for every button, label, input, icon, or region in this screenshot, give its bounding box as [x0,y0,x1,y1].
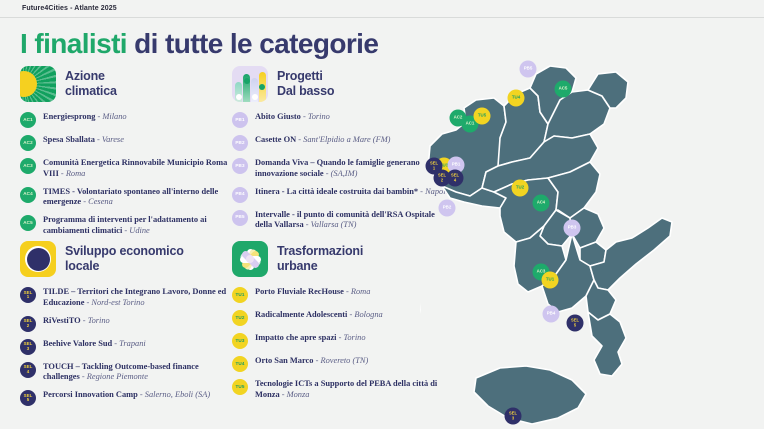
category-title: Sviluppo economicolocale [65,244,184,274]
category-trasformazioni-urbane: TrasformazioniurbaneTU1Porto Fluviale Re… [232,241,450,407]
finalist-text: TOUCH – Tackling Outcome-based finance c… [43,361,235,384]
finalist-text: Impatto che apre spazi - Torino [255,332,366,344]
list-item[interactable]: SEL2RiVestiTO - Torino [20,315,235,332]
circle-target-icon [20,241,56,277]
list-item[interactable]: SEL3Beehive Valore Sud - Trapani [20,338,235,355]
page-title: I finalisti di tutte le categorie [20,28,378,60]
map-pin-pb5[interactable]: PB5 [520,61,537,78]
finalist-text: Spesa Sballata - Varese [43,134,124,146]
finalist-name: Abito Giusto [255,112,301,121]
category-sviluppo-economico-locale: Sviluppo economicolocaleSEL1TILDE – Terr… [20,241,235,412]
finalist-name: TIMES - Volontariato spontaneo all'inter… [43,187,218,207]
map-pin-ac5[interactable]: AC5 [555,81,572,98]
list-item[interactable]: SEL5Percorsi Innovation Camp - Salerno, … [20,389,235,406]
list-item[interactable]: TU3Impatto che apre spazi - Torino [232,332,450,349]
finalist-place: Sant'Elpidio a Mare (FM) [303,135,390,144]
map-pin-tu5[interactable]: TU5 [474,108,491,125]
finalist-badge: AC1 [20,112,36,128]
list-item[interactable]: PB4Itinera - La città ideale costruita d… [232,186,450,203]
finalist-list: SEL1TILDE – Territori che Integrano Lavo… [20,286,235,412]
finalist-name: Beehive Valore Sud [43,339,112,348]
category-title-line1: Progetti [277,69,334,84]
finalist-badge: TU2 [232,310,248,326]
finalist-text: TILDE – Territori che Integrano Lavoro, … [43,286,235,309]
category-header: ProgettiDal basso [232,66,450,102]
finalist-place: (SA,IM) [331,169,358,178]
finalist-badge: AC5 [20,215,36,231]
finalist-place: Vallarsa (TN) [311,220,357,229]
finalist-place: Milano [102,112,126,121]
finalist-place: Udine [129,226,149,235]
finalist-text: Porto Fluviale RecHouse - Roma [255,286,370,298]
finalist-place: Nord-est Torino [91,298,144,307]
finalist-badge: PB1 [232,112,248,128]
finalist-place: Torino [343,333,365,342]
category-title: ProgettiDal basso [277,69,334,99]
finalist-name: Energiesprong [43,112,95,121]
category-azione-climatica: AzioneclimaticaAC1Energiesprong - Milano… [20,66,235,243]
finalist-name: Impatto che apre spazi [255,333,337,342]
finalist-text: Casette ON - Sant'Elpidio a Mare (FM) [255,134,390,146]
category-header: Azioneclimatica [20,66,235,102]
finalist-text: Itinera - La città ideale costruita dai … [255,186,448,198]
category-title-line2: urbane [277,259,363,274]
finalist-text: RiVestiTO - Torino [43,315,110,327]
list-item[interactable]: PB3Domanda Viva – Quando le famiglie gen… [232,157,450,180]
finalist-badge: SEL2 [20,316,36,332]
finalist-text: Radicalmente Adolescenti - Bologna [255,309,383,321]
finalist-badge: AC2 [20,135,36,151]
category-title-line2: Dal basso [277,84,334,99]
list-item[interactable]: AC2Spesa Sballata - Varese [20,134,235,151]
sun-rays-icon [20,66,56,102]
list-item[interactable]: TU2Radicalmente Adolescenti - Bologna [232,309,450,326]
finalist-text: Programma di interventi per l'adattament… [43,214,235,237]
list-item[interactable]: TU1Porto Fluviale RecHouse - Roma [232,286,450,303]
bar-chart-pastel-icon [232,66,268,102]
finalist-badge: PB3 [232,158,248,174]
category-header: Trasformazioniurbane [232,241,450,277]
list-item[interactable]: AC4TIMES - Volontariato spontaneo all'in… [20,186,235,209]
map-pin-pb4[interactable]: PB4 [543,306,560,323]
finalist-place: Roma [66,169,86,178]
finalist-badge: PB4 [232,187,248,203]
page-title-rest: di tutte le categorie [134,28,378,59]
map-pin-pb3[interactable]: PB3 [564,220,581,237]
finalist-name: RiVestiTO [43,316,81,325]
finalist-name: Porto Fluviale RecHouse [255,287,344,296]
finalist-place: Cesena [88,197,113,206]
finalist-place: Trapani [119,339,146,348]
finalist-place: Varese [102,135,124,144]
map-pin-pb2[interactable]: PB2 [439,200,456,217]
finalist-badge: TU5 [232,379,248,395]
finalist-text: Percorsi Innovation Camp - Salerno, Ebol… [43,389,210,401]
finalist-list: TU1Porto Fluviale RecHouse - RomaTU2Radi… [232,286,450,407]
finalist-badge: SEL4 [20,362,36,378]
finalist-place: Roma [351,287,371,296]
finalist-place: Bologna [354,310,382,319]
finalist-place: Torino [88,316,110,325]
finalist-badge: PB5 [232,210,248,226]
finalist-badge: TU4 [232,356,248,372]
map-pin-tu1[interactable]: TU1 [542,272,559,289]
map-pin-tu2[interactable]: TU2 [512,180,529,197]
list-item[interactable]: SEL4TOUCH – Tackling Outcome-based finan… [20,361,235,384]
flower-icon [232,241,268,277]
italy-map-svg [420,46,764,429]
finalist-badge: SEL3 [20,339,36,355]
slide-root: Future4Cities - Atlante 2025 I finalisti… [0,0,764,429]
finalist-name: Itinera - La città ideale costruita dai … [255,187,418,196]
finalist-text: TIMES - Volontariato spontaneo all'inter… [43,186,235,209]
category-title-line1: Azione [65,69,117,84]
finalist-list: PB1Abito Giusto - TorinoPB2Casette ON - … [232,111,450,237]
finalist-text: Beehive Valore Sud - Trapani [43,338,146,350]
category-progetti-dal-basso: ProgettiDal bassoPB1Abito Giusto - Torin… [232,66,450,237]
category-title-line1: Trasformazioni [277,244,363,259]
finalist-place: Rovereto (TN) [320,356,368,365]
category-title-line1: Sviluppo economico [65,244,184,259]
list-item[interactable]: AC1Energiesprong - Milano [20,111,235,128]
finalist-badge: SEL5 [20,390,36,406]
category-title-line2: locale [65,259,184,274]
category-title: Trasformazioniurbane [277,244,363,274]
topbar: Future4Cities - Atlante 2025 [0,0,764,18]
finalist-badge: AC3 [20,158,36,174]
list-item[interactable]: SEL1TILDE – Territori che Integrano Lavo… [20,286,235,309]
map-pin-ac4[interactable]: AC4 [533,195,550,212]
finalist-name: Casette ON [255,135,296,144]
map-pin-sel-3[interactable]: SEL3 [505,408,522,425]
list-item[interactable]: PB1Abito Giusto - Torino [232,111,450,128]
finalist-text: Energiesprong - Milano [43,111,127,123]
map-pin-sel-4[interactable]: SEL4 [447,170,464,187]
finalist-badge: TU1 [232,287,248,303]
finalist-name: Spesa Sballata [43,135,95,144]
finalist-badge: AC4 [20,187,36,203]
map-pin-tu4[interactable]: TU4 [508,90,525,107]
map-pin-sel-5[interactable]: SEL5 [567,315,584,332]
finalist-name: Radicalmente Adolescenti [255,310,347,319]
finalist-list: AC1Energiesprong - MilanoAC2Spesa Sballa… [20,111,235,243]
list-item[interactable]: PB5Intervalle - il punto di comunità del… [232,209,450,232]
finalist-place: Monza [287,390,310,399]
finalist-place: Torino [308,112,330,121]
finalist-text: Orto San Marco - Rovereto (TN) [255,355,368,367]
category-header: Sviluppo economicolocale [20,241,235,277]
italy-map[interactable]: AC1AC2AC5AC4AC3TU5TU4TU2TU1TU3PB1PB2PB3P… [420,46,764,429]
list-item[interactable]: PB2Casette ON - Sant'Elpidio a Mare (FM) [232,134,450,151]
list-item[interactable]: AC5Programma di interventi per l'adattam… [20,214,235,237]
finalist-text: Abito Giusto - Torino [255,111,330,123]
list-item[interactable]: TU5Tecnologie ICTs a Supporto del PEBA d… [232,378,450,401]
finalist-place: Salerno, Eboli (SA) [145,390,210,399]
finalist-badge: TU3 [232,333,248,349]
map-pin-ac2[interactable]: AC2 [450,110,467,127]
page-title-highlight: I finalisti [20,28,127,59]
finalist-badge: SEL1 [20,287,36,303]
topbar-label: Future4Cities - Atlante 2025 [22,5,117,12]
finalist-badge: PB2 [232,135,248,151]
list-item[interactable]: AC3Comunità Energetica Rinnovabile Munic… [20,157,235,180]
finalist-name: Orto San Marco [255,356,313,365]
list-item[interactable]: TU4Orto San Marco - Rovereto (TN) [232,355,450,372]
category-title-line2: climatica [65,84,117,99]
finalist-place: Regione Piemonte [87,372,148,381]
finalist-name: Percorsi Innovation Camp [43,390,138,399]
category-title: Azioneclimatica [65,69,117,99]
finalist-text: Comunità Energetica Rinnovabile Municipi… [43,157,235,180]
